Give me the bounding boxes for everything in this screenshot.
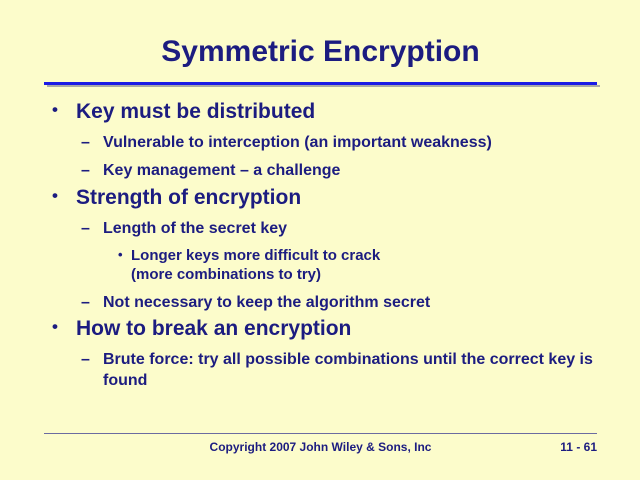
bullet-level2: – Not necessary to keep the algorithm se… (44, 292, 604, 313)
bullet-level2: – Vulnerable to interception (an importa… (44, 132, 604, 153)
bullet-text: How to break an encryption (76, 315, 604, 342)
bullet-text: Vulnerable to interception (an important… (103, 132, 604, 153)
bullet-dot-icon: • (52, 184, 76, 209)
bullet-dash-icon: – (81, 160, 103, 181)
copyright-text: Copyright 2007 John Wiley & Sons, Inc (44, 440, 597, 454)
footer-divider (44, 433, 597, 434)
bullet-level2: – Key management – a challenge (44, 160, 604, 181)
footer: Copyright 2007 John Wiley & Sons, Inc 11… (44, 440, 597, 458)
bullet-dot-icon: • (52, 315, 76, 340)
bullet-text: Strength of encryption (76, 184, 604, 211)
bullet-list: • Key must be distributed – Vulnerable t… (44, 96, 604, 392)
bullet-dash-icon: – (81, 292, 103, 313)
page-number: 11 - 61 (560, 440, 597, 454)
slide: Symmetric Encryption • Key must be distr… (0, 0, 640, 480)
bullet-text: Brute force: try all possible combinatio… (103, 349, 604, 391)
bullet-level1: • How to break an encryption (44, 315, 604, 342)
bullet-text: Not necessary to keep the algorithm secr… (103, 292, 604, 313)
title-block: Symmetric Encryption (44, 36, 597, 68)
title-divider-shadow (47, 85, 600, 87)
bullet-text: Length of the secret key (103, 218, 604, 239)
bullet-text: Key management – a challenge (103, 160, 604, 181)
bullet-level1: • Key must be distributed (44, 98, 604, 125)
bullet-level2: – Length of the secret key (44, 218, 604, 239)
bullet-dash-icon: – (81, 132, 103, 153)
bullet-dash-icon: – (81, 349, 103, 370)
bullet-dash-icon: – (81, 218, 103, 239)
bullet-dot-icon: • (118, 246, 131, 265)
bullet-text: Longer keys more difficult to crack (mor… (131, 246, 404, 285)
bullet-level2: – Brute force: try all possible combinat… (44, 349, 604, 391)
page-title: Symmetric Encryption (44, 36, 597, 68)
bullet-text: Key must be distributed (76, 98, 604, 125)
bullet-level3: • Longer keys more difficult to crack (m… (44, 246, 404, 285)
bullet-dot-icon: • (52, 98, 76, 123)
bullet-level1: • Strength of encryption (44, 184, 604, 211)
